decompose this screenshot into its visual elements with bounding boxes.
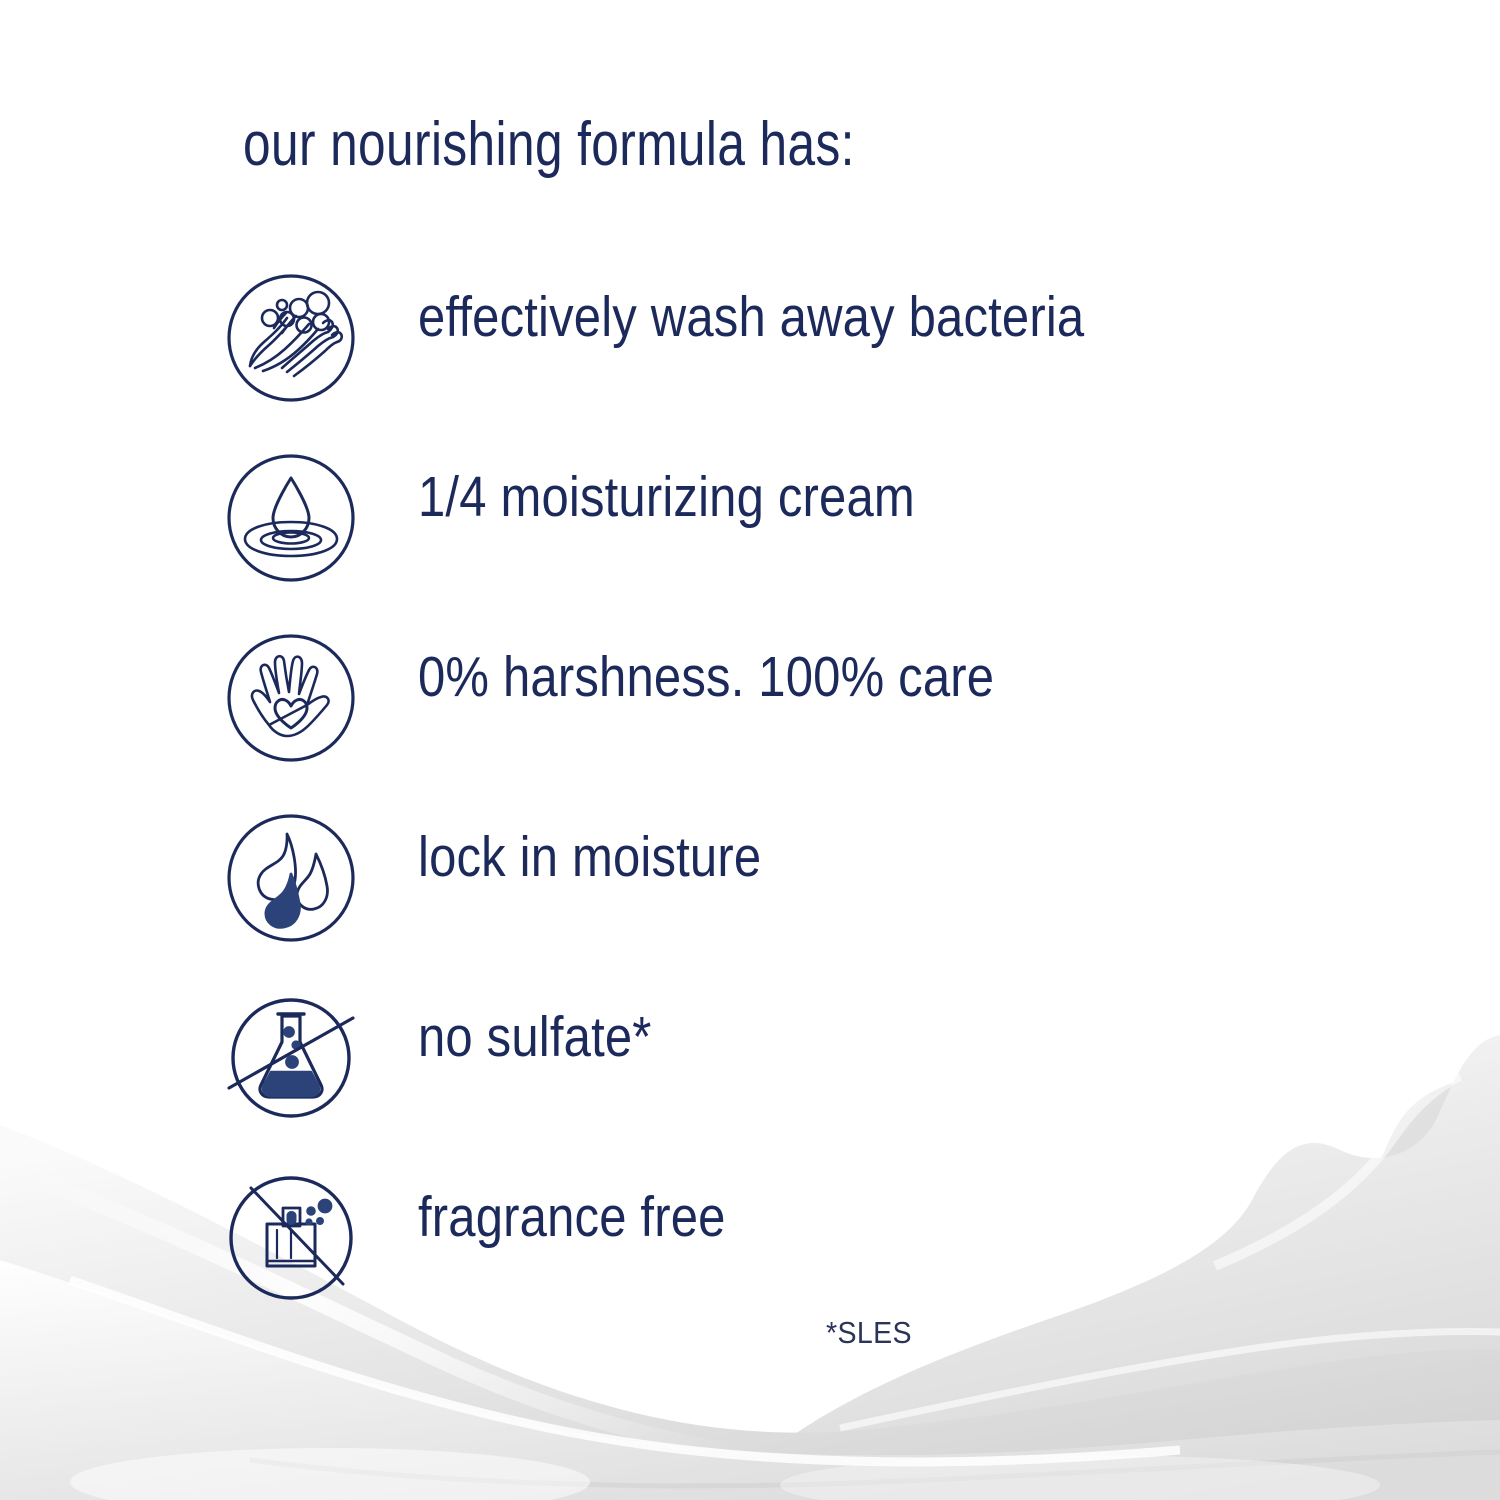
no-fragrance-bottle-crossed-icon <box>225 1172 357 1304</box>
benefit-list: effectively wash away bacteria 1/4 moist… <box>0 262 1500 1342</box>
list-item: 0% harshness. 100% care <box>0 622 1500 802</box>
product-benefits-infographic: our nourishing formula has: <box>0 0 1500 1500</box>
list-item-label: lock in moisture <box>418 829 761 886</box>
list-item: 1/4 moisturizing cream <box>0 442 1500 622</box>
list-item-label: no sulfate* <box>418 1009 652 1066</box>
hand-with-heart-icon <box>225 632 357 764</box>
list-item: effectively wash away bacteria <box>0 262 1500 442</box>
list-item-label: 0% harshness. 100% care <box>418 649 994 706</box>
no-sulfate-flask-crossed-icon <box>225 992 357 1124</box>
page-title: our nourishing formula has: <box>243 112 855 177</box>
water-droplet-ripple-icon <box>225 452 357 584</box>
list-item: no sulfate* <box>0 982 1500 1162</box>
list-item: lock in moisture <box>0 802 1500 982</box>
washing-hands-bubbles-icon <box>225 272 357 404</box>
list-item-label: effectively wash away bacteria <box>418 289 1084 346</box>
list-item-label: 1/4 moisturizing cream <box>418 469 915 526</box>
footnote-sles: *SLES <box>826 1315 912 1351</box>
three-droplets-icon <box>225 812 357 944</box>
list-item: fragrance free <box>0 1162 1500 1342</box>
list-item-label: fragrance free <box>418 1189 726 1246</box>
